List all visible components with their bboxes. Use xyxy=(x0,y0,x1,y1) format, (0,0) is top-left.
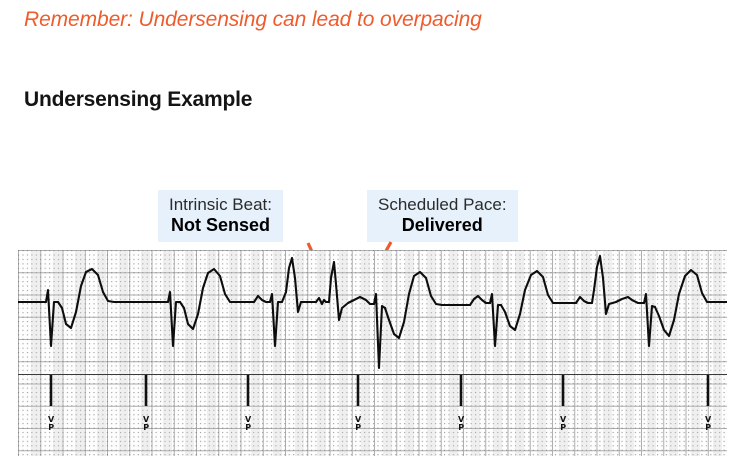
marker-label-vp: VP xyxy=(242,416,254,431)
marker-label-vp: VP xyxy=(45,416,57,431)
callout-scheduled-pace-line1: Scheduled Pace: xyxy=(378,195,507,214)
callout-intrinsic-beat-line1: Intrinsic Beat: xyxy=(169,195,272,214)
ecg-rhythm-strip: VP VP VP VP VP VP VP xyxy=(18,250,727,456)
marker-label-vp: VP xyxy=(140,416,152,431)
callout-scheduled-pace-line2: Delivered xyxy=(378,215,507,235)
page-title: Undersensing Example xyxy=(24,88,252,112)
marker-label-vp: VP xyxy=(557,416,569,431)
callout-scheduled-pace: Scheduled Pace: Delivered xyxy=(367,190,518,242)
marker-label-vp: VP xyxy=(352,416,364,431)
marker-label-vp: VP xyxy=(702,416,714,431)
callout-intrinsic-beat-line2: Not Sensed xyxy=(169,215,272,235)
marker-label-vp: VP xyxy=(455,416,467,431)
callout-intrinsic-beat: Intrinsic Beat: Not Sensed xyxy=(158,190,283,242)
reminder-text: Remember: Undersensing can lead to overp… xyxy=(24,8,482,32)
marker-channel-trace xyxy=(18,250,727,456)
